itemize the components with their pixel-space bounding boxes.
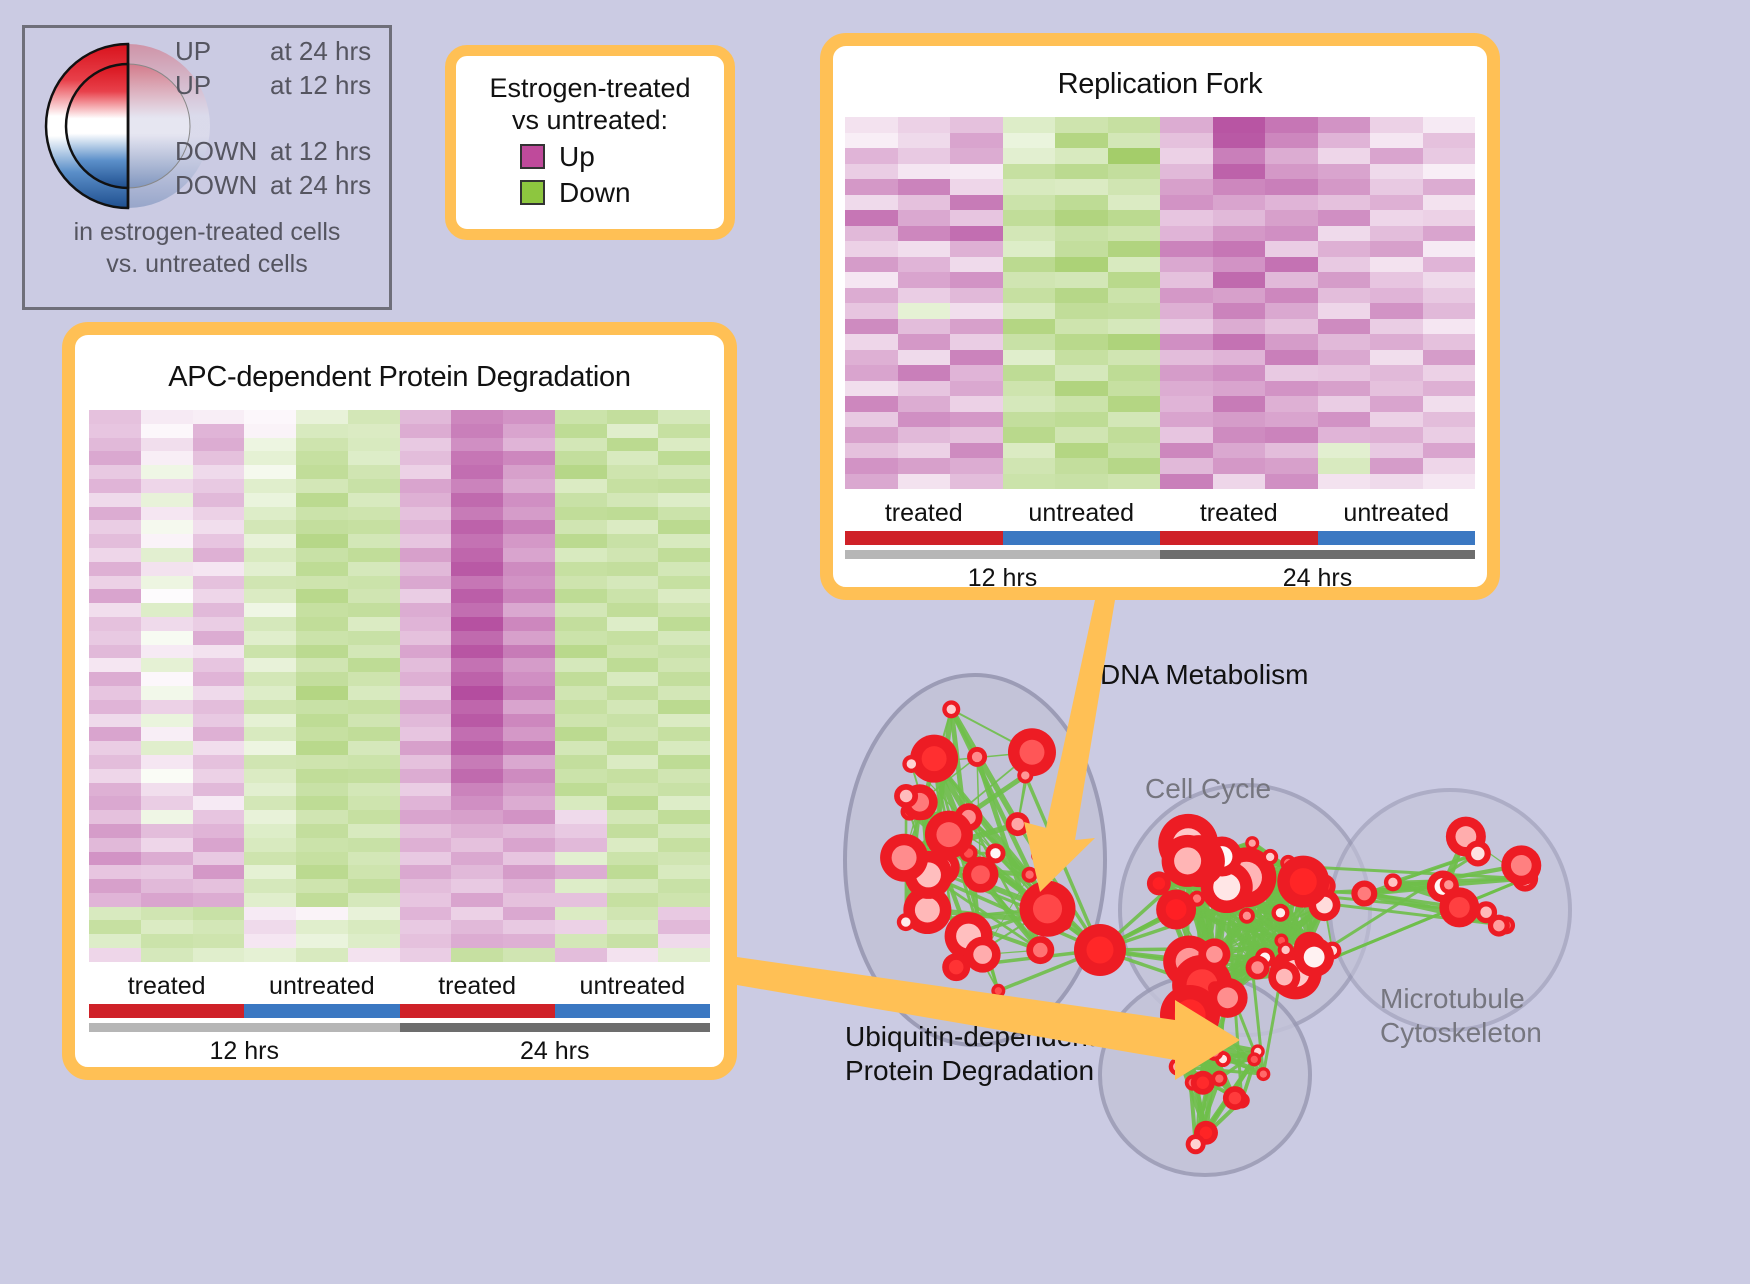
heatmap-cell [348, 934, 400, 948]
heatmap-cell [193, 589, 245, 603]
heatmap-cell [1213, 412, 1266, 428]
heatmap-cell [451, 934, 503, 948]
heatmap-cell [89, 852, 141, 866]
heatmap-cell [898, 381, 951, 397]
heatmap-cell [503, 520, 555, 534]
heatmap-cell [451, 603, 503, 617]
heatmap-cell [658, 438, 710, 452]
apc-degradation-heatmap [89, 410, 710, 962]
apc-timepoint-labels: 12 hrs24 hrs [89, 1037, 710, 1066]
heatmap-cell [244, 700, 296, 714]
heatmap-cell [845, 133, 898, 149]
heatmap-cell [193, 507, 245, 521]
heatmap-cell [451, 465, 503, 479]
heatmap-cell [244, 451, 296, 465]
heatmap-cell [607, 755, 659, 769]
legend-title-line1: Estrogen-treated [456, 72, 724, 104]
heatmap-cell [89, 727, 141, 741]
heatmap-cell [1423, 412, 1476, 428]
network-node-core [1444, 880, 1453, 889]
heatmap-cell [244, 769, 296, 783]
heatmap-cell [89, 465, 141, 479]
legend-item-up: Up [520, 141, 724, 173]
heatmap-cell [348, 686, 400, 700]
heatmap-cell [607, 465, 659, 479]
heatmap-cell [898, 443, 951, 459]
heatmap-cell [296, 410, 348, 424]
heatmap-cell [1003, 148, 1056, 164]
heatmap-cell [1003, 427, 1056, 443]
heatmap-cell [296, 658, 348, 672]
heatmap-cell [1370, 195, 1423, 211]
heatmap-cell [451, 410, 503, 424]
heatmap-cell [555, 576, 607, 590]
heatmap-cell [1055, 148, 1108, 164]
heatmap-cell [503, 907, 555, 921]
heatmap-cell [244, 907, 296, 921]
heatmap-cell [244, 783, 296, 797]
heatmap-cell [503, 576, 555, 590]
heatmap-cell [1003, 365, 1056, 381]
heatmap-cell [658, 410, 710, 424]
heatmap-cell [950, 381, 1003, 397]
heatmap-cell [503, 493, 555, 507]
heatmap-cell [1423, 381, 1476, 397]
heatmap-cell [555, 796, 607, 810]
heatmap-cell [1003, 179, 1056, 195]
heatmap-cell [607, 727, 659, 741]
heatmap-cell [1160, 303, 1213, 319]
heatmap-cell [244, 686, 296, 700]
heatmap-cell [296, 920, 348, 934]
heatmap-cell [193, 783, 245, 797]
heatmap-cell [1370, 427, 1423, 443]
heatmap-cell [555, 783, 607, 797]
heatmap-cell [607, 658, 659, 672]
ring-key-labels: UP at 24 hrs UP at 12 hrs DOWN at 12 hrs… [175, 36, 393, 204]
timepoint-color-bar [1160, 550, 1475, 559]
heatmap-cell [296, 714, 348, 728]
heatmap-cell [141, 576, 193, 590]
heatmap-cell [503, 438, 555, 452]
heatmap-cell [1003, 303, 1056, 319]
heatmap-cell [658, 576, 710, 590]
heatmap-cell [193, 879, 245, 893]
condition-color-bar [244, 1004, 399, 1018]
heatmap-cell [950, 288, 1003, 304]
heatmap-cell [950, 334, 1003, 350]
heatmap-cell [555, 920, 607, 934]
heatmap-cell [400, 645, 452, 659]
heatmap-cell [845, 272, 898, 288]
heatmap-cell [1213, 319, 1266, 335]
heatmap-cell [1423, 474, 1476, 490]
heatmap-cell [1423, 303, 1476, 319]
heatmap-cell [607, 824, 659, 838]
network-node-core [1033, 894, 1062, 923]
heatmap-cell [400, 783, 452, 797]
heatmap-cell [451, 631, 503, 645]
heatmap-cell [1160, 427, 1213, 443]
network-node-core [1229, 1092, 1241, 1104]
heatmap-cell [898, 427, 951, 443]
heatmap-cell [348, 645, 400, 659]
heatmap-cell [451, 824, 503, 838]
heatmap-cell [555, 451, 607, 465]
heatmap-cell [898, 272, 951, 288]
key-time: at 24 hrs [270, 36, 371, 67]
heatmap-cell [141, 893, 193, 907]
heatmap-cell [400, 700, 452, 714]
heatmap-cell [555, 741, 607, 755]
heatmap-cell [141, 796, 193, 810]
heatmap-cell [1370, 272, 1423, 288]
heatmap-cell [1370, 241, 1423, 257]
heatmap-cell [503, 451, 555, 465]
apc-timepoint-bar [89, 1023, 710, 1032]
heatmap-cell [658, 920, 710, 934]
heatmap-cell [451, 534, 503, 548]
heatmap-cell [555, 548, 607, 562]
condition-label: untreated [1318, 499, 1476, 528]
heatmap-cell [193, 631, 245, 645]
heatmap-cell [89, 741, 141, 755]
heatmap-cell [607, 589, 659, 603]
heatmap-cell [555, 714, 607, 728]
heatmap-cell [400, 465, 452, 479]
heatmap-cell [1055, 412, 1108, 428]
heatmap-cell [400, 810, 452, 824]
heatmap-cell [1108, 458, 1161, 474]
heatmap-cell [1055, 350, 1108, 366]
heatmap-cell [244, 548, 296, 562]
heatmap-cell [658, 424, 710, 438]
heatmap-cell [1423, 334, 1476, 350]
heatmap-cell [898, 319, 951, 335]
heatmap-cell [1265, 148, 1318, 164]
heatmap-cell [1003, 288, 1056, 304]
replication-fork-timepoint-labels: 12 hrs24 hrs [845, 564, 1475, 593]
heatmap-cell [348, 948, 400, 962]
key-row: UP at 24 hrs [175, 36, 393, 70]
heatmap-cell [1265, 210, 1318, 226]
heatmap-cell [658, 465, 710, 479]
heatmap-cell [348, 920, 400, 934]
heatmap-cell [503, 893, 555, 907]
heatmap-cell [845, 334, 898, 350]
heatmap-cell [658, 893, 710, 907]
heatmap-cell [348, 796, 400, 810]
heatmap-cell [1055, 319, 1108, 335]
heatmap-cell [950, 148, 1003, 164]
heatmap-cell [1423, 365, 1476, 381]
heatmap-cell [503, 658, 555, 672]
heatmap-cell [1423, 443, 1476, 459]
heatmap-cell [555, 493, 607, 507]
condition-label: untreated [1003, 499, 1161, 528]
network-node-core [1217, 987, 1238, 1008]
heatmap-cell [296, 424, 348, 438]
heatmap-cell [451, 451, 503, 465]
heatmap-cell [193, 548, 245, 562]
heatmap-cell [555, 769, 607, 783]
heatmap-cell [658, 907, 710, 921]
heatmap-cell [1370, 226, 1423, 242]
network-node-core [949, 960, 964, 975]
heatmap-cell [296, 700, 348, 714]
heatmap-cell [89, 714, 141, 728]
heatmap-cell [845, 381, 898, 397]
heatmap-cell [296, 783, 348, 797]
heatmap-cell [400, 548, 452, 562]
heatmap-cell [348, 893, 400, 907]
heatmap-cell [1003, 164, 1056, 180]
network-node-core [1358, 887, 1372, 901]
heatmap-cell [1265, 458, 1318, 474]
heatmap-cell [1265, 365, 1318, 381]
heatmap-cell [555, 479, 607, 493]
heatmap-cell [503, 714, 555, 728]
timepoint-label: 24 hrs [1160, 564, 1475, 593]
heatmap-cell [1160, 179, 1213, 195]
heatmap-cell [1213, 241, 1266, 257]
heatmap-cell [89, 645, 141, 659]
heatmap-cell [1265, 381, 1318, 397]
network-node-core [1471, 847, 1485, 861]
heatmap-cell [607, 645, 659, 659]
heatmap-cell [898, 210, 951, 226]
heatmap-cell [296, 852, 348, 866]
heatmap-cell [141, 783, 193, 797]
heatmap-cell [1318, 303, 1371, 319]
key-direction: DOWN [175, 136, 270, 167]
heatmap-cell [348, 451, 400, 465]
heatmap-cell [141, 838, 193, 852]
heatmap-cell [193, 700, 245, 714]
heatmap-cell [1108, 396, 1161, 412]
heatmap-cell [348, 631, 400, 645]
network-node-core [915, 898, 940, 923]
condition-label: treated [400, 972, 555, 1001]
heatmap-cell [244, 727, 296, 741]
heatmap-cell [89, 520, 141, 534]
heatmap-cell [348, 424, 400, 438]
heatmap-cell [244, 672, 296, 686]
heatmap-cell [141, 948, 193, 962]
heatmap-cell [845, 148, 898, 164]
heatmap-cell [1265, 179, 1318, 195]
heatmap-cell [503, 672, 555, 686]
heatmap-cell [400, 507, 452, 521]
heatmap-cell [348, 741, 400, 755]
heatmap-cell [658, 879, 710, 893]
heatmap-cell [503, 783, 555, 797]
heatmap-cell [898, 179, 951, 195]
heatmap-cell [555, 727, 607, 741]
heatmap-cell [1423, 117, 1476, 133]
heatmap-cell [1055, 458, 1108, 474]
heatmap-cell [845, 396, 898, 412]
heatmap-cell [1003, 195, 1056, 211]
heatmap-cell [503, 796, 555, 810]
heatmap-cell [555, 700, 607, 714]
heatmap-cell [1108, 195, 1161, 211]
heatmap-cell [244, 465, 296, 479]
heatmap-cell [1160, 272, 1213, 288]
heatmap-cell [1213, 195, 1266, 211]
heatmap-cell [1423, 458, 1476, 474]
heatmap-cell [950, 241, 1003, 257]
heatmap-cell [950, 195, 1003, 211]
heatmap-cell [503, 865, 555, 879]
heatmap-cell [451, 686, 503, 700]
heatmap-cell [1318, 241, 1371, 257]
heatmap-cell [296, 796, 348, 810]
heatmap-cell [503, 424, 555, 438]
heatmap-cell [1265, 474, 1318, 490]
heatmap-cell [1265, 396, 1318, 412]
heatmap-cell [503, 879, 555, 893]
heatmap-cell [348, 438, 400, 452]
heatmap-cell [296, 865, 348, 879]
network-node-core [922, 746, 947, 771]
heatmap-cell [658, 548, 710, 562]
heatmap-cell [503, 645, 555, 659]
heatmap-cell [244, 534, 296, 548]
legend-title-line2: vs untreated: [456, 104, 724, 136]
heatmap-cell [1265, 412, 1318, 428]
network-node-core [900, 790, 912, 802]
heatmap-cell [1423, 288, 1476, 304]
replication-fork-heatmap [845, 117, 1475, 489]
cluster-label-ubiquitin-degradation: Ubiquitin-dependent Protein Degradation [845, 1020, 1096, 1087]
heatmap-cell [1003, 334, 1056, 350]
heatmap-cell [1003, 226, 1056, 242]
heatmap-cell [1213, 396, 1266, 412]
legend-label-down: Down [559, 177, 631, 209]
heatmap-cell [607, 562, 659, 576]
network-node-core [1480, 906, 1491, 917]
network-node-core [1249, 839, 1256, 846]
heatmap-cell [244, 838, 296, 852]
network-node-core [936, 822, 961, 847]
heatmap-cell [348, 479, 400, 493]
heatmap-cell [845, 241, 898, 257]
heatmap-cell [296, 672, 348, 686]
heatmap-cell [1265, 303, 1318, 319]
heatmap-cell [1108, 288, 1161, 304]
heatmap-cell [607, 548, 659, 562]
heatmap-cell [141, 410, 193, 424]
heatmap-cell [296, 507, 348, 521]
network-node-core [1276, 969, 1293, 986]
heatmap-cell [1318, 396, 1371, 412]
heatmap-cell [193, 479, 245, 493]
heatmap-cell [193, 920, 245, 934]
heatmap-cell [296, 548, 348, 562]
heatmap-cell [400, 920, 452, 934]
heatmap-cell [451, 907, 503, 921]
heatmap-cell [244, 755, 296, 769]
network-node-core [1266, 853, 1274, 861]
heatmap-cell [348, 838, 400, 852]
apc-condition-labels: treateduntreatedtreateduntreated [89, 972, 710, 1001]
heatmap-cell [1423, 241, 1476, 257]
heatmap-cell [451, 783, 503, 797]
replication-fork-condition-bar [845, 531, 1475, 545]
heatmap-cell [607, 534, 659, 548]
heatmap-cell [503, 700, 555, 714]
network-node-core [1174, 999, 1205, 1030]
apc-degradation-panel: APC-dependent Protein Degradation treate… [62, 322, 737, 1080]
timepoint-color-bar [89, 1023, 400, 1032]
heatmap-cell [400, 824, 452, 838]
heatmap-cell [1423, 148, 1476, 164]
heatmap-cell [1423, 350, 1476, 366]
heatmap-cell [845, 226, 898, 242]
heatmap-cell [400, 617, 452, 631]
heatmap-cell [193, 714, 245, 728]
heatmap-cell [1003, 319, 1056, 335]
network-node-core [1210, 1047, 1219, 1056]
heatmap-cell [658, 645, 710, 659]
heatmap-cell [1318, 412, 1371, 428]
heatmap-cell [141, 686, 193, 700]
heatmap-cell [1055, 133, 1108, 149]
heatmap-cell [1213, 288, 1266, 304]
heatmap-cell [89, 479, 141, 493]
heatmap-cell [1055, 365, 1108, 381]
heatmap-cell [1055, 288, 1108, 304]
heatmap-cell [503, 603, 555, 617]
heatmap-cell [1003, 210, 1056, 226]
heatmap-cell [658, 727, 710, 741]
heatmap-cell [1003, 458, 1056, 474]
heatmap-cell [1318, 474, 1371, 490]
heatmap-cell [1160, 164, 1213, 180]
heatmap-cell [141, 438, 193, 452]
heatmap-cell [193, 451, 245, 465]
heatmap-cell [1160, 381, 1213, 397]
heatmap-cell [503, 562, 555, 576]
heatmap-cell [555, 520, 607, 534]
heatmap-cell [1003, 133, 1056, 149]
apc-condition-bar [89, 1004, 710, 1018]
heatmap-cell [555, 907, 607, 921]
heatmap-cell [296, 576, 348, 590]
condition-color-bar [1318, 531, 1476, 545]
heatmap-cell [296, 645, 348, 659]
heatmap-cell [1370, 412, 1423, 428]
heatmap-cell [89, 796, 141, 810]
heatmap-cell [89, 410, 141, 424]
network-node-core [1511, 855, 1532, 876]
heatmap-cell [1213, 458, 1266, 474]
heatmap-cell [658, 741, 710, 755]
heatmap-cell [658, 769, 710, 783]
heatmap-cell [898, 396, 951, 412]
heatmap-cell [1160, 412, 1213, 428]
heatmap-cell [1318, 350, 1371, 366]
heatmap-cell [607, 686, 659, 700]
heatmap-cell [348, 852, 400, 866]
heatmap-cell [89, 589, 141, 603]
heatmap-cell [296, 603, 348, 617]
heatmap-cell [400, 479, 452, 493]
heatmap-cell [193, 741, 245, 755]
heatmap-cell [1423, 226, 1476, 242]
heatmap-cell [1160, 210, 1213, 226]
